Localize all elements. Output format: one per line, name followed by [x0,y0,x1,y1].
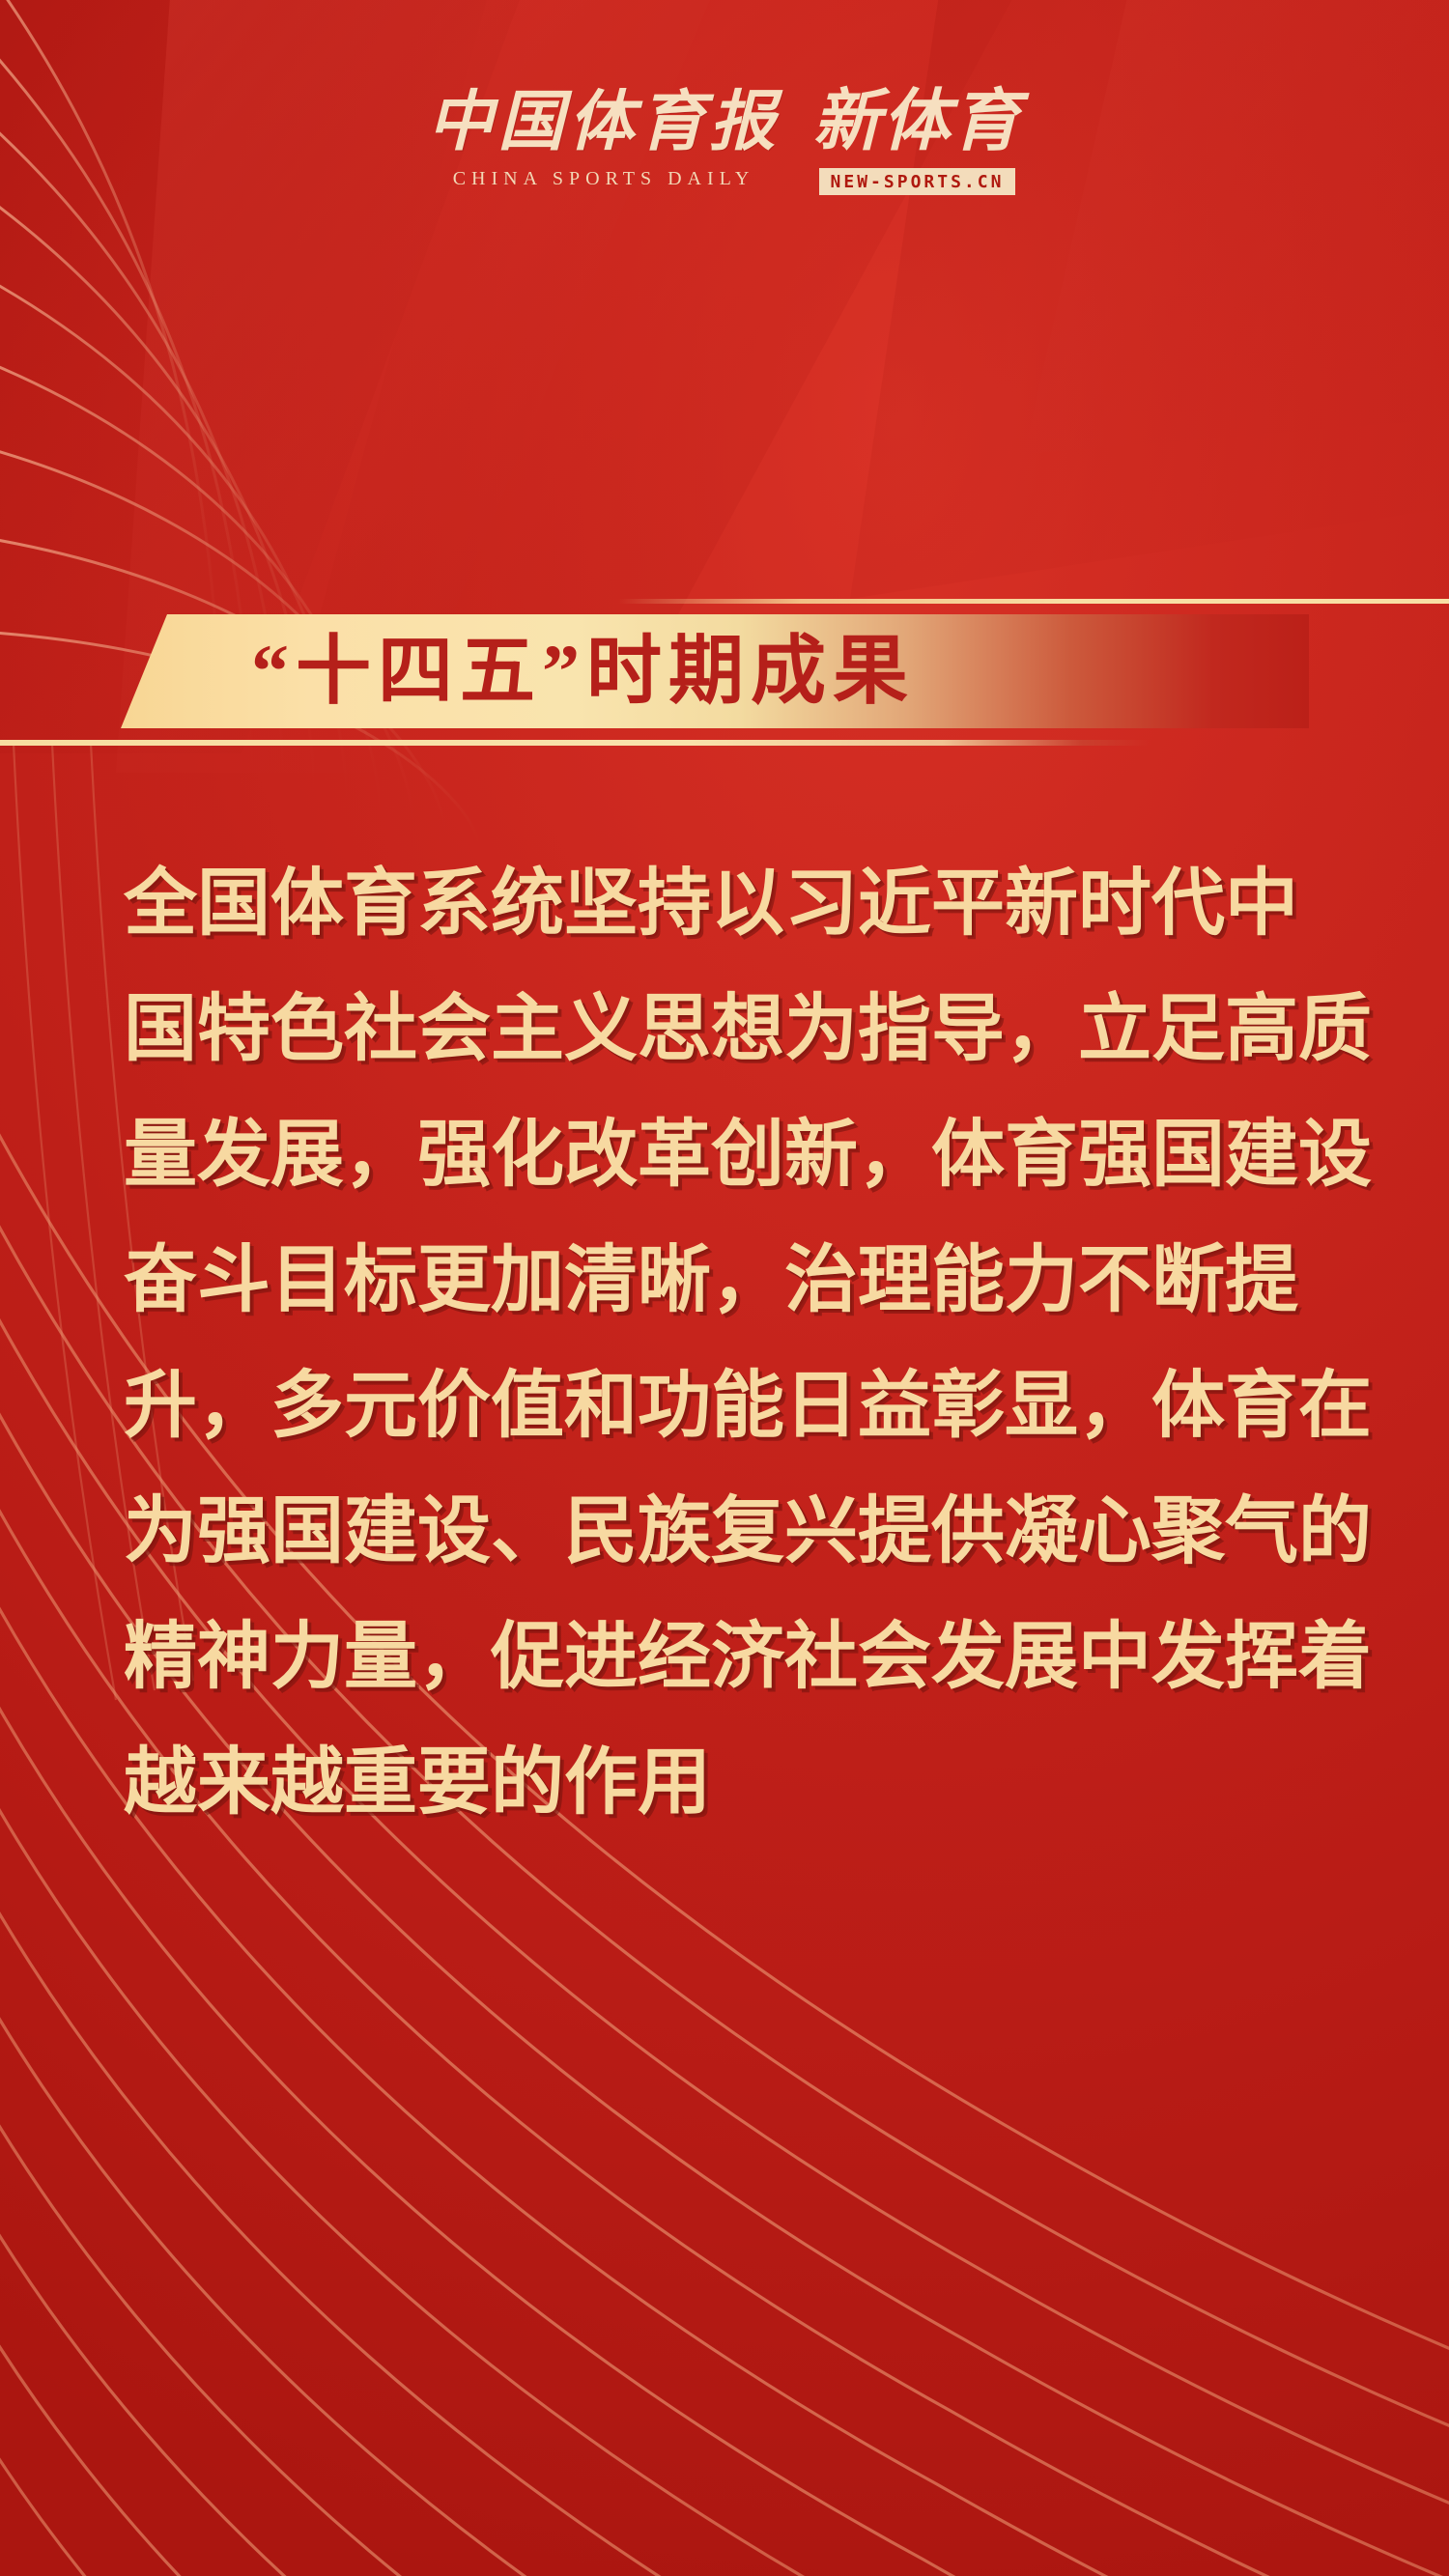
body-line: 奋斗目标更加清晰，治理能力不断提 [124,1244,1317,1323]
gold-rule-bottom [0,740,1150,746]
newspaper-name-cn: 中国体育报 [427,89,780,155]
body-line: 全国体育系统坚持以习近平新时代中 [124,867,1317,947]
title-banner: “十四五”时期成果 [121,614,1309,728]
body-copy: 全国体育系统坚持以习近平新时代中 国特色社会主义思想为指导，立足高质 量发展，强… [124,867,1317,1826]
body-line: 为强国建设、民族复兴提供凝心聚气的 [124,1495,1317,1574]
body-line: 精神力量，促进经济社会发展中发挥着 [124,1621,1317,1700]
banner-title-text: “十四五”时期成果 [251,634,915,709]
body-line: 升，多元价值和功能日益彰显，体育在 [124,1370,1317,1449]
body-line: 国特色社会主义思想为指导，立足高质 [124,993,1317,1072]
new-sports-logo[interactable]: 新体育 NEW-SPORTS.CN [813,89,1022,195]
gold-rule-top [618,599,1449,604]
body-line: 越来越重要的作用 [124,1746,1317,1826]
china-sports-daily-logo[interactable]: 中国体育报 CHINA SPORTS DAILY [427,89,780,190]
poster-root: 中国体育报 CHINA SPORTS DAILY 新体育 NEW-SPORTS.… [0,0,1449,2576]
masthead: 中国体育报 CHINA SPORTS DAILY 新体育 NEW-SPORTS.… [0,89,1449,195]
newspaper-name-en: CHINA SPORTS DAILY [453,168,755,190]
body-line: 量发展，强化改革创新，体育强国建设 [124,1118,1317,1198]
site-name-cn: 新体育 [813,89,1022,156]
site-url-badge: NEW-SPORTS.CN [819,168,1016,195]
